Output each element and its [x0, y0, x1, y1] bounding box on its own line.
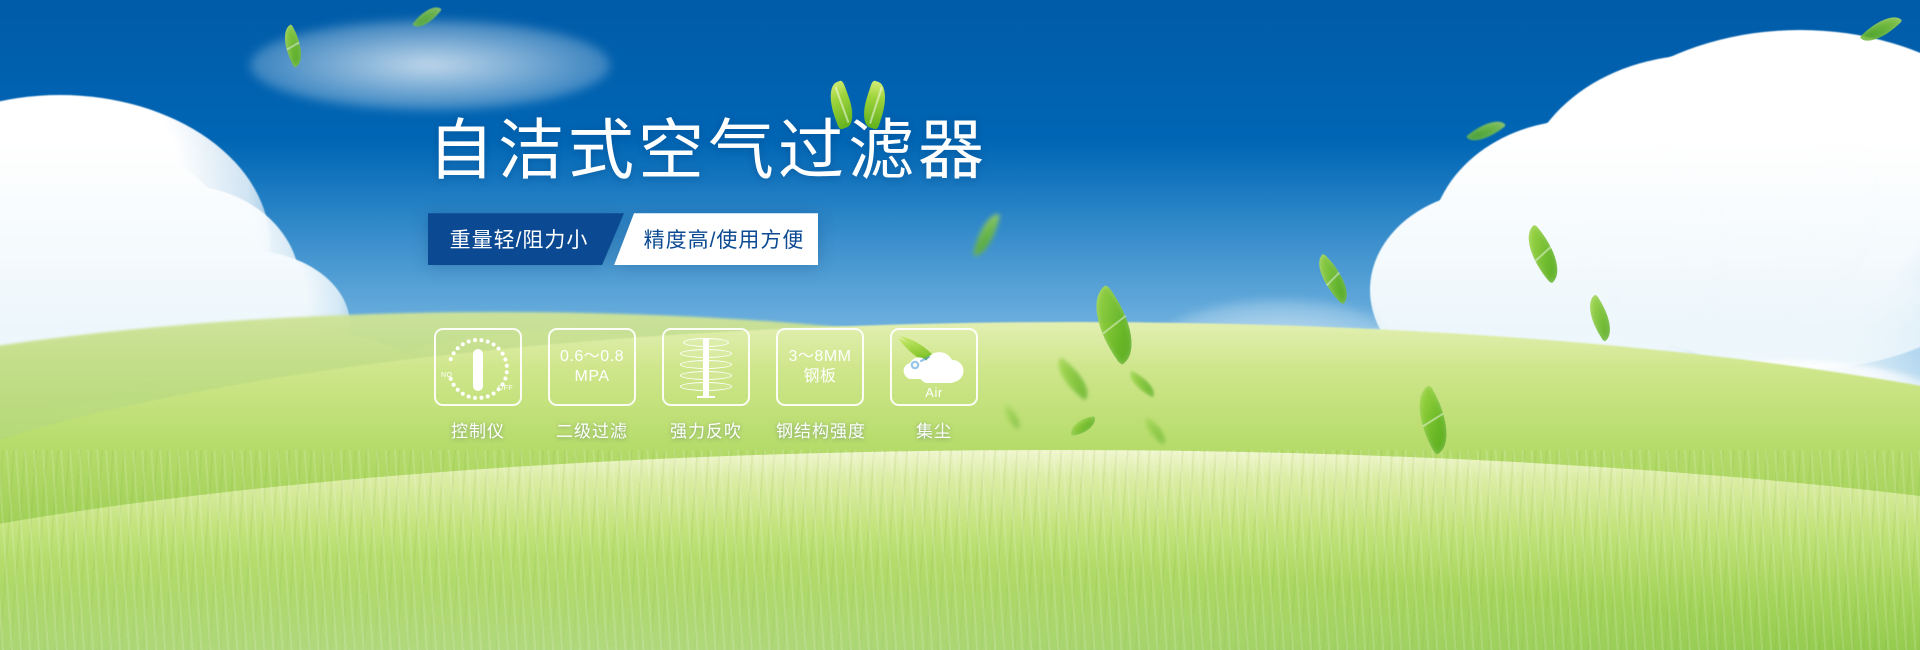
- gauge-tick: [492, 391, 496, 395]
- floating-leaf: [1049, 357, 1098, 401]
- air-cloud-icon: Air: [894, 332, 974, 402]
- cloud-right-2: [1520, 55, 1880, 345]
- cloud-right-6: [1260, 330, 1540, 500]
- cloud-left-5: [150, 330, 450, 490]
- floating-leaf: [1139, 417, 1172, 446]
- gauge-tick: [503, 377, 507, 381]
- cloud-right-5: [1350, 300, 1710, 500]
- gauge-tick: [456, 388, 460, 392]
- steel-plate-value: 3～8MM 钢板: [789, 347, 852, 387]
- cloud-wisp-low-1: [900, 430, 1200, 520]
- feature-icon-row: NO OFF 控制仪 0.6～0.8 MPA 二级过滤: [434, 328, 978, 442]
- gauge-tick: [501, 352, 505, 356]
- gauge-tick: [449, 357, 453, 361]
- gauge-tick: [505, 364, 509, 368]
- gauge-tick: [473, 338, 477, 342]
- sprout-leaf-icon: [825, 78, 889, 128]
- hill-foreground: [0, 450, 1920, 650]
- cloud-wisp-mid-right: [1150, 300, 1410, 410]
- cloud-horizon-6: [1350, 400, 1770, 550]
- floating-leaf: [276, 24, 311, 68]
- floating-leaf: [1515, 224, 1571, 284]
- cloud-right-3: [1430, 120, 1730, 370]
- cloud-right-4: [1370, 190, 1620, 390]
- gauge-tick: [456, 346, 460, 350]
- feature-caption: 集尘: [890, 417, 978, 442]
- gauge-tick: [452, 351, 456, 355]
- cloud-horizon-5: [100, 430, 620, 560]
- gauge-tick: [452, 383, 456, 387]
- gauge-label-off: OFF: [498, 385, 513, 392]
- gauge-tick: [479, 338, 483, 342]
- feature-caption: 强力反吹: [662, 417, 750, 442]
- floating-leaf: [1125, 370, 1160, 397]
- cloud-horizon-7: [1580, 360, 1920, 540]
- gauge-tick: [486, 394, 490, 398]
- gauge-tick: [503, 357, 507, 361]
- tag-lightweight-lowresistance[interactable]: 重量轻/阻力小: [428, 213, 624, 265]
- floating-leaf: [1579, 294, 1620, 342]
- cloud-right-1: [1560, 30, 1920, 370]
- floating-leaf: [1860, 8, 1903, 50]
- cloud-right-soft-low: [1530, 250, 1920, 480]
- feature-box: 0.6～0.8 MPA: [548, 328, 636, 406]
- grass-highlight: [0, 480, 1920, 650]
- gauge-tick: [486, 340, 490, 344]
- floating-leaf: [1078, 284, 1151, 365]
- feature-item-controller[interactable]: NO OFF 控制仪: [434, 328, 522, 442]
- gauge-icon: NO OFF: [441, 335, 515, 399]
- hero-banner: 自洁式空气过滤器 重量轻/阻力小 精度高/使用方便 NO OFF 控制仪 0.6…: [0, 0, 1920, 650]
- cloud-left-4: [140, 250, 350, 400]
- cloud-left-soft-low: [0, 300, 290, 490]
- feature-box: NO OFF: [434, 328, 522, 406]
- cloud-left-3: [60, 185, 300, 385]
- feature-box: [662, 328, 750, 406]
- feature-item-dust-collection[interactable]: Air 集尘: [890, 328, 978, 442]
- feature-item-two-stage-filter[interactable]: 0.6～0.8 MPA 二级过滤: [548, 328, 636, 442]
- gauge-tick: [473, 396, 477, 400]
- tag-highprecision-easyuse[interactable]: 精度高/使用方便: [614, 213, 818, 265]
- floating-leaf: [1404, 385, 1462, 455]
- air-label: Air: [894, 385, 974, 400]
- feature-box: 3～8MM 钢板: [776, 328, 864, 406]
- pressure-value: 0.6～0.8 MPA: [560, 347, 624, 387]
- feature-tag-group: 重量轻/阻力小 精度高/使用方便: [428, 213, 828, 265]
- grass-texture: [0, 450, 1920, 650]
- gauge-label-on: NO: [441, 372, 452, 379]
- floating-leaf: [998, 404, 1025, 430]
- gauge-tick: [461, 342, 465, 346]
- feature-item-steel-strength[interactable]: 3～8MM 钢板 钢结构强度: [776, 328, 864, 442]
- feature-box: Air: [890, 328, 978, 406]
- feature-caption: 控制仪: [434, 417, 522, 442]
- floating-leaf: [412, 1, 442, 33]
- feature-caption: 钢结构强度: [776, 417, 864, 442]
- filter-stack-icon: [680, 336, 732, 398]
- page-title: 自洁式空气过滤器: [428, 116, 1088, 185]
- gauge-tick: [505, 370, 509, 374]
- floating-leaf: [1069, 416, 1097, 435]
- feature-caption: 二级过滤: [548, 417, 636, 442]
- hero-content: 自洁式空气过滤器 重量轻/阻力小 精度高/使用方便: [428, 116, 1088, 265]
- cloud-wisp-top: [250, 20, 610, 110]
- gauge-tick: [461, 392, 465, 396]
- gauge-tick: [492, 343, 496, 347]
- gauge-tick: [497, 347, 501, 351]
- feature-item-reverse-blow[interactable]: 强力反吹: [662, 328, 750, 442]
- cloud-left-6: [0, 390, 420, 540]
- cloud-left-1: [0, 95, 270, 395]
- gauge-tick: [467, 394, 471, 398]
- cloud-horizon-4: [1020, 420, 1500, 560]
- gauge-tick: [467, 340, 471, 344]
- cloud-wisp-low-2: [640, 470, 1060, 570]
- gauge-tick: [479, 396, 483, 400]
- cloud-left-2: [0, 140, 240, 390]
- floating-leaf: [1308, 253, 1359, 304]
- floating-leaf: [1466, 113, 1506, 149]
